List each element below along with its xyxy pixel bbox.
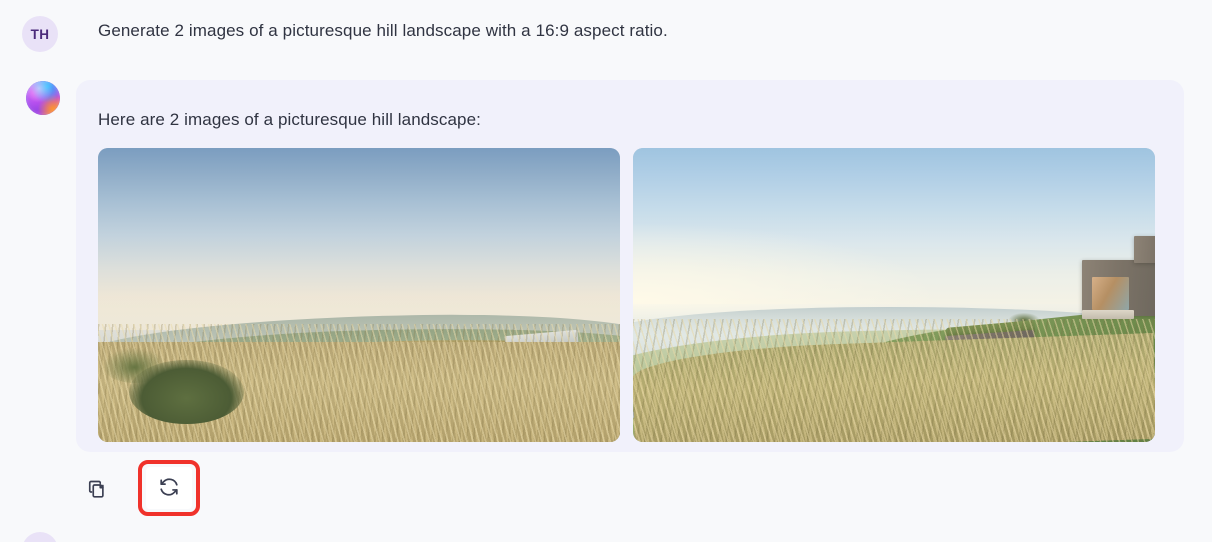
- copy-button[interactable]: [76, 466, 120, 510]
- assistant-message-text: Here are 2 images of a picturesque hill …: [98, 108, 481, 132]
- conversation-thread: TH Generate 2 images of a picturesque hi…: [0, 0, 1212, 542]
- next-message-avatar: [22, 532, 58, 542]
- avatar-user: TH: [22, 16, 58, 52]
- image-1-bush: [129, 360, 244, 425]
- image-2-house: [1134, 236, 1155, 262]
- generated-image-2[interactable]: [633, 148, 1155, 442]
- orb-gloss: [26, 81, 60, 115]
- image-2-grass-blades: [633, 319, 1155, 442]
- user-message-text: Generate 2 images of a picturesque hill …: [98, 18, 668, 43]
- regenerate-button[interactable]: [146, 467, 192, 509]
- regenerate-highlight-wrapper: [138, 460, 200, 516]
- image-2-house-window: [1092, 277, 1129, 309]
- avatar-assistant: [26, 81, 60, 115]
- message-action-bar: [76, 460, 200, 516]
- copy-icon: [88, 478, 109, 499]
- refresh-icon: [158, 476, 180, 501]
- assistant-message-bubble: Here are 2 images of a picturesque hill …: [76, 80, 1184, 452]
- generated-image-1[interactable]: [98, 148, 620, 442]
- generated-image-grid: [98, 148, 1155, 442]
- user-message: TH Generate 2 images of a picturesque hi…: [0, 0, 1212, 78]
- image-2-terrace: [1082, 310, 1134, 319]
